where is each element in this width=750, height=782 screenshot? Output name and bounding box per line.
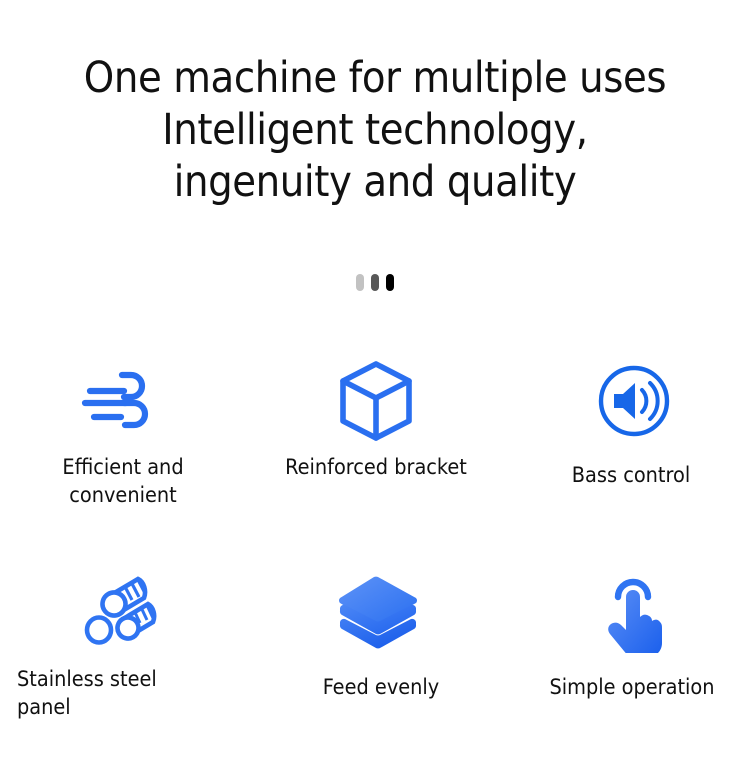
feature-label: Feed evenly: [323, 674, 440, 702]
feature-label: Efficient and convenient: [16, 454, 231, 510]
feature-item-bass-control: Bass control: [500, 358, 750, 570]
feature-item-stainless-steel-panel: Stainless steel panel: [0, 570, 250, 782]
speaker-volume-icon: [597, 358, 671, 444]
stacked-tubes-icon: [82, 570, 162, 656]
page-title-line-3: ingenuity and quality: [0, 156, 750, 208]
promo-feature-page: One machine for multiple uses Intelligen…: [0, 0, 750, 750]
feature-label: Reinforced bracket: [285, 454, 467, 482]
feature-label: Stainless steel panel: [17, 666, 197, 722]
wind-icon: [80, 358, 158, 444]
feature-grid: Efficient and convenient Reinforced brac…: [0, 358, 750, 782]
feature-label: Bass control: [572, 462, 690, 490]
feature-item-efficient-and-convenient: Efficient and convenient: [0, 358, 250, 570]
feature-item-feed-evenly: Feed evenly: [250, 570, 500, 782]
feature-item-simple-operation: Simple operation: [500, 570, 750, 782]
divider-bar-2: [371, 274, 379, 291]
page-title: One machine for multiple uses Intelligen…: [0, 52, 750, 208]
divider-bar-1: [356, 274, 364, 291]
feature-item-reinforced-bracket: Reinforced bracket: [250, 358, 500, 570]
three-bar-divider: [0, 274, 750, 291]
divider-bar-3: [386, 274, 394, 291]
tap-hand-icon: [601, 570, 673, 656]
page-title-line-2: Intelligent technology,: [0, 104, 750, 156]
cube-icon: [339, 358, 413, 444]
page-title-line-1: One machine for multiple uses: [0, 52, 750, 104]
layers-stack-icon: [336, 570, 420, 656]
feature-label: Simple operation: [549, 674, 714, 702]
